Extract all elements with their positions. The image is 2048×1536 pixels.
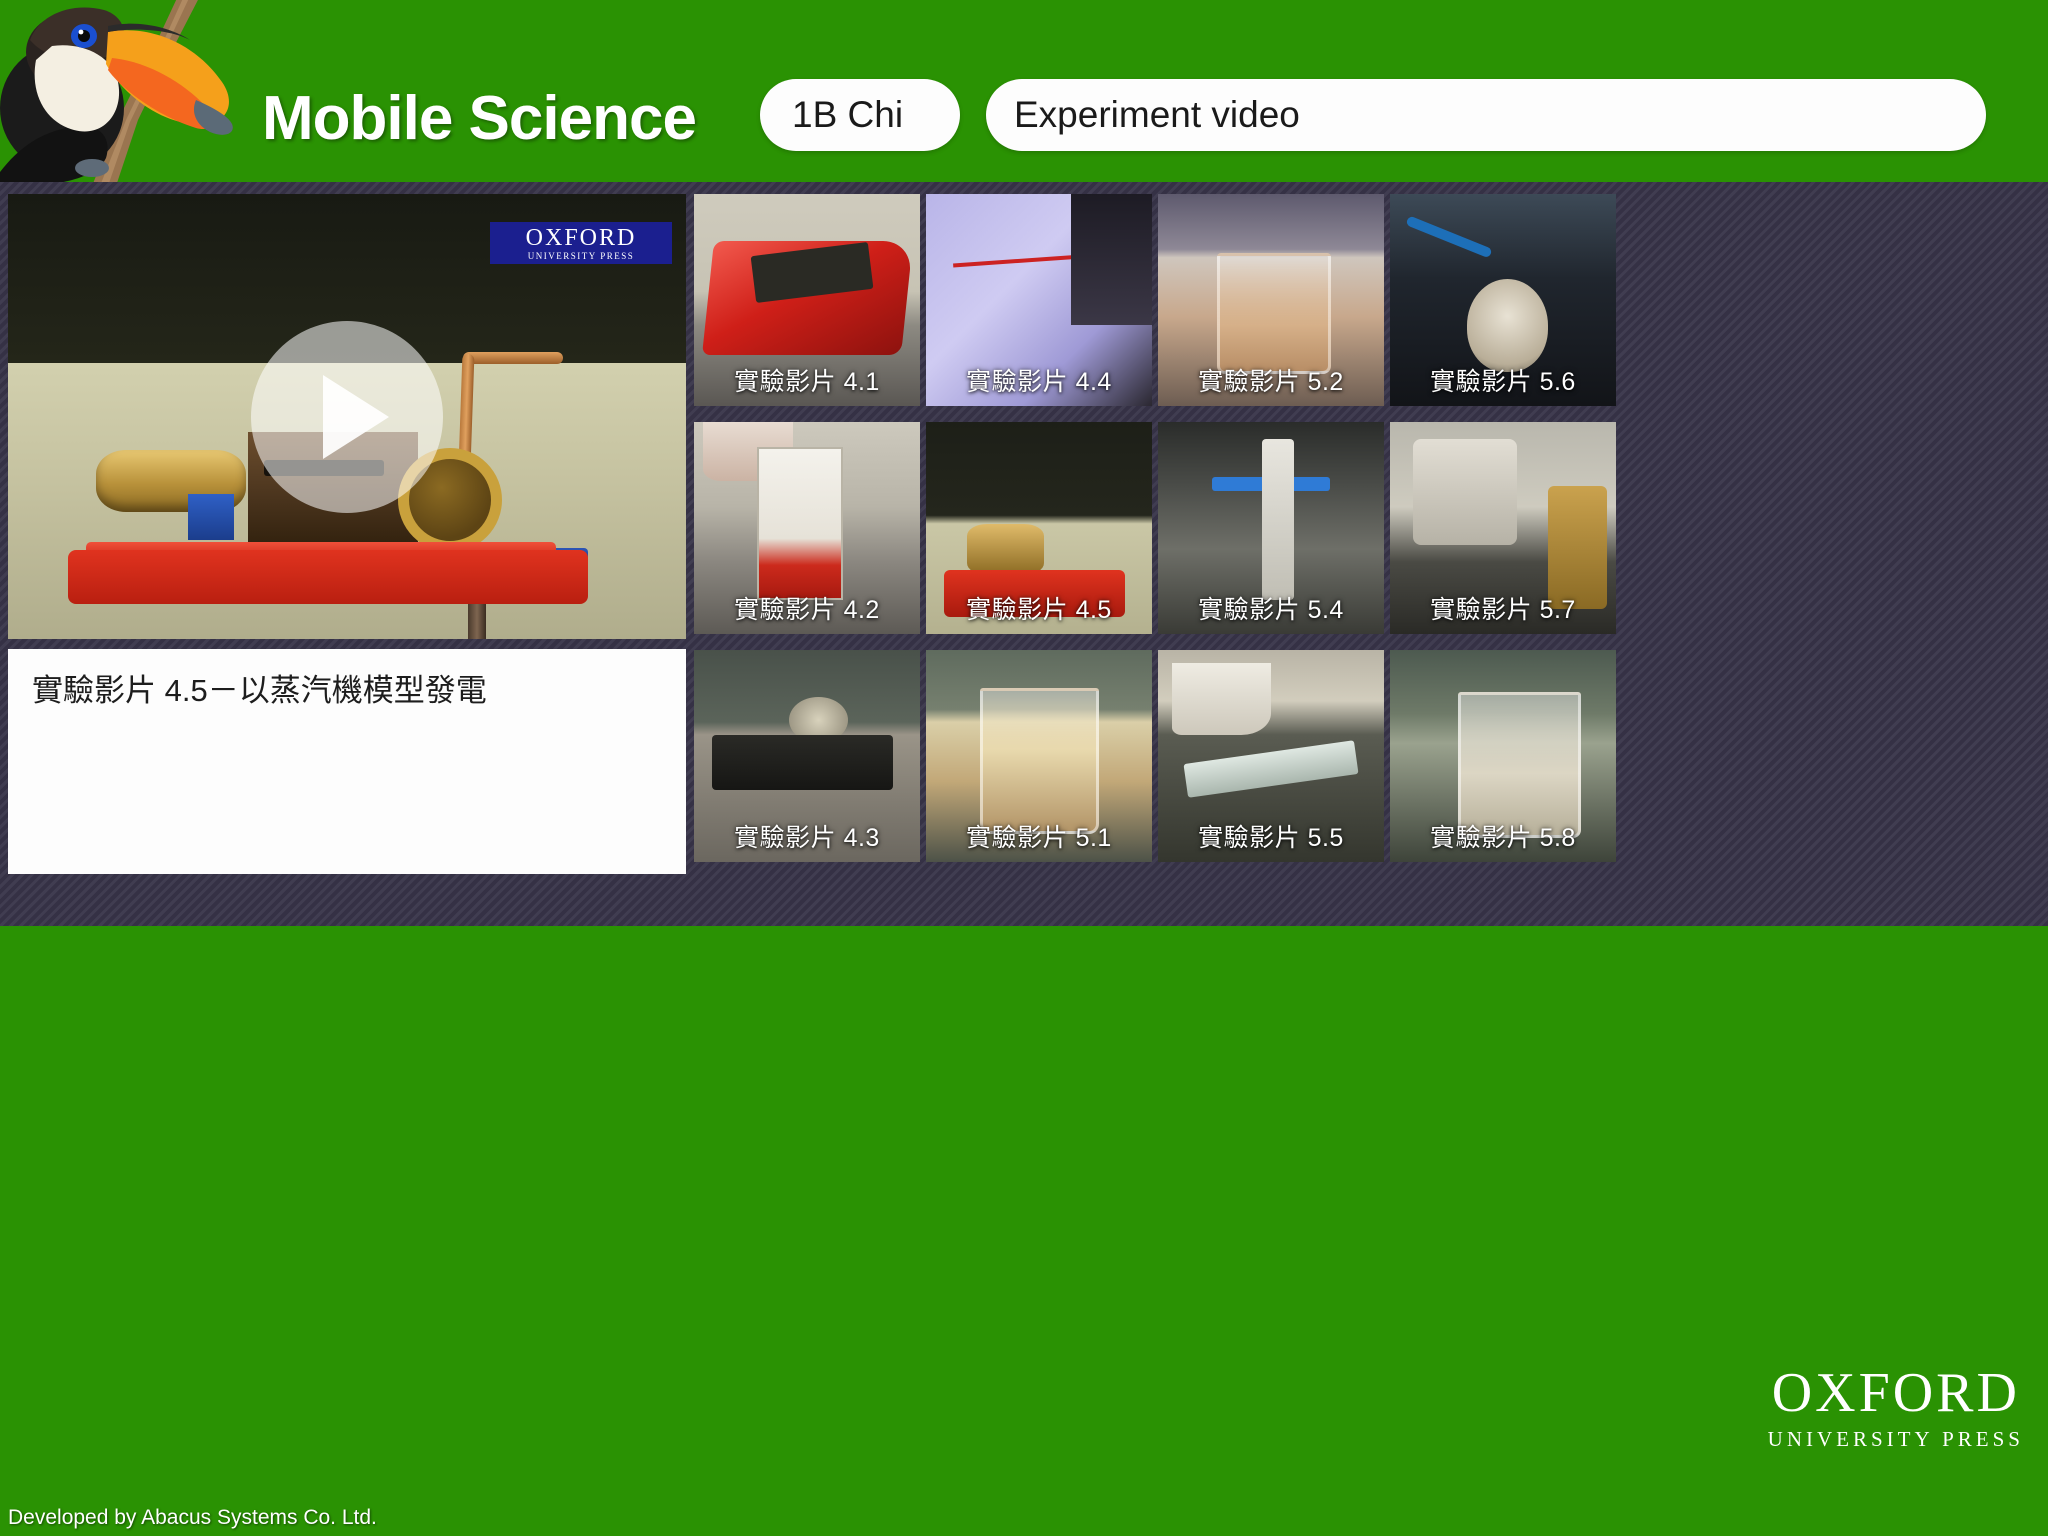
video-caption-text: 實驗影片 4.5－以蒸汽機模型發電 — [32, 671, 662, 711]
oxford-university-press-logo: OXFORD UNIVERSITY PRESS — [1768, 1365, 2024, 1450]
app-root: Mobile Science 1B Chi Experiment video — [0, 0, 2048, 1536]
thumb-5-2[interactable]: 實驗影片 5.2 — [1158, 194, 1384, 406]
class-selector-label: 1B Chi — [792, 94, 903, 136]
thumbnail-label: 實驗影片 4.4 — [926, 362, 1152, 398]
thumbnail-label: 實驗影片 4.2 — [694, 590, 920, 626]
thumb-5-4[interactable]: 實驗影片 5.4 — [1158, 422, 1384, 634]
toucan-bird-icon — [0, 0, 250, 182]
video-player[interactable]: OXFORD UNIVERSITY PRESS — [8, 194, 686, 639]
thumbnail-label: 實驗影片 4.5 — [926, 590, 1152, 626]
page-title: Mobile Science — [262, 88, 696, 150]
thumbnail-label: 實驗影片 5.2 — [1158, 362, 1384, 398]
play-triangle-icon — [323, 375, 389, 459]
thumb-5-6[interactable]: 實驗影片 5.6 — [1390, 194, 1616, 406]
thumbnail-label: 實驗影片 5.6 — [1390, 362, 1616, 398]
video-caption-panel: 實驗影片 4.5－以蒸汽機模型發電 — [8, 649, 686, 874]
thumb-4-4[interactable]: 實驗影片 4.4 — [926, 194, 1152, 406]
thumbnail-label: 實驗影片 5.5 — [1158, 818, 1384, 854]
app-footer: OXFORD UNIVERSITY PRESS Developed by Aba… — [0, 926, 2048, 1536]
thumb-4-1[interactable]: 實驗影片 4.1 — [694, 194, 920, 406]
thumb-5-5[interactable]: 實驗影片 5.5 — [1158, 650, 1384, 862]
oxford-watermark-line2: UNIVERSITY PRESS — [528, 252, 634, 261]
section-selector-label: Experiment video — [1014, 94, 1300, 136]
video-thumbnail-grid: 實驗影片 4.1實驗影片 4.4實驗影片 5.2實驗影片 5.6實驗影片 4.2… — [694, 194, 2048, 862]
thumb-4-2[interactable]: 實驗影片 4.2 — [694, 422, 920, 634]
section-selector-button[interactable]: Experiment video — [986, 79, 1986, 151]
thumb-5-7[interactable]: 實驗影片 5.7 — [1390, 422, 1616, 634]
class-selector-button[interactable]: 1B Chi — [760, 79, 960, 151]
app-header: Mobile Science 1B Chi Experiment video — [0, 0, 2048, 182]
play-button[interactable] — [251, 321, 443, 513]
thumbnail-label: 實驗影片 4.1 — [694, 362, 920, 398]
thumb-4-3[interactable]: 實驗影片 4.3 — [694, 650, 920, 862]
publisher-name: OXFORD — [1768, 1365, 2024, 1421]
thumb-5-1[interactable]: 實驗影片 5.1 — [926, 650, 1152, 862]
thumbnail-label: 實驗影片 5.8 — [1390, 818, 1616, 854]
developer-credit: Developed by Abacus Systems Co. Ltd. — [8, 1506, 377, 1530]
thumbnail-label: 實驗影片 5.7 — [1390, 590, 1616, 626]
thumbnail-label: 實驗影片 5.4 — [1158, 590, 1384, 626]
content-stage: OXFORD UNIVERSITY PRESS 實驗影片 4.5－以蒸汽機模型發… — [0, 182, 2048, 926]
thumb-5-8[interactable]: 實驗影片 5.8 — [1390, 650, 1616, 862]
thumb-4-5[interactable]: 實驗影片 4.5 — [926, 422, 1152, 634]
thumbnail-label: 實驗影片 4.3 — [694, 818, 920, 854]
oxford-watermark: OXFORD UNIVERSITY PRESS — [490, 222, 672, 264]
publisher-subtitle: UNIVERSITY PRESS — [1768, 1429, 2024, 1450]
oxford-watermark-line1: OXFORD — [526, 226, 637, 250]
thumbnail-label: 實驗影片 5.1 — [926, 818, 1152, 854]
